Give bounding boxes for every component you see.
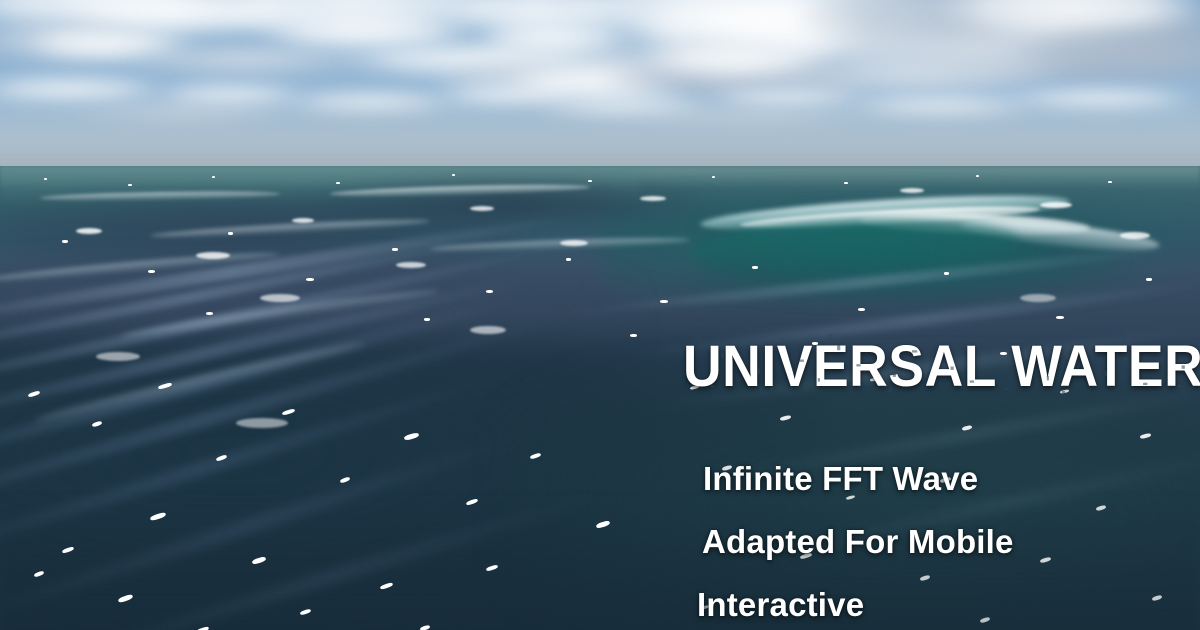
sun-sparkle <box>1056 316 1064 319</box>
sun-sparkle <box>452 174 455 176</box>
sun-sparkle <box>660 300 668 303</box>
swell-streak <box>0 310 567 533</box>
sun-sparkle <box>128 184 132 186</box>
swell-streak <box>0 211 577 333</box>
hero-banner: UNIVERSAL WATER SYSTEM <box>0 0 1200 630</box>
wave-crest <box>430 235 690 253</box>
sun-sparkle <box>858 308 865 311</box>
sun-sparkle <box>340 476 351 483</box>
sun-sparkle <box>300 608 312 615</box>
whitecap <box>1120 232 1150 239</box>
overlay-text-block: UNIVERSAL WATER SYSTEM <box>683 334 1200 622</box>
sun-sparkle <box>392 248 398 251</box>
far-water-band <box>0 166 1200 188</box>
wave-crest <box>33 338 367 426</box>
wave-crest <box>0 249 280 285</box>
cloud-wisp <box>470 18 640 58</box>
sun-sparkle <box>1108 181 1112 183</box>
swell-streak <box>0 229 515 366</box>
whitecap <box>470 206 494 211</box>
sun-sparkle <box>486 564 499 572</box>
cloud-low <box>0 76 170 102</box>
whitecap <box>292 218 314 223</box>
whitecap <box>196 252 230 259</box>
swell-streak <box>0 272 533 438</box>
sun-sparkle <box>158 382 173 390</box>
sky-background <box>0 0 1200 172</box>
sun-sparkle <box>466 498 479 506</box>
breaking-wave-foam <box>740 202 1040 232</box>
whitecap <box>470 326 506 334</box>
whitecap <box>96 352 140 361</box>
sun-sparkle <box>752 266 758 269</box>
whitecap <box>640 196 666 201</box>
sun-sparkle <box>118 594 134 604</box>
wave-crest <box>40 190 280 202</box>
sun-sparkle <box>62 546 75 554</box>
whitecap <box>1040 202 1072 208</box>
page-title-text: UNIVERSAL WATER SYSTEM <box>683 334 1200 399</box>
cloud-low <box>60 104 300 122</box>
swell-streak <box>0 423 547 629</box>
sun-sparkle <box>424 318 430 321</box>
wave-trough <box>300 172 720 234</box>
sun-sparkle <box>62 240 68 243</box>
feature-line-2: Adapted For Mobile <box>702 525 1200 559</box>
far-water-band <box>0 166 640 206</box>
sun-sparkle <box>148 270 155 273</box>
sun-sparkle <box>844 182 848 184</box>
swell-streak <box>0 369 508 570</box>
wave-face <box>689 214 1021 279</box>
sun-sparkle <box>228 232 233 235</box>
swell-streak <box>0 290 530 485</box>
sun-sparkle <box>216 454 228 462</box>
sun-sparkle <box>206 312 213 315</box>
swell-streak <box>51 486 610 630</box>
sun-sparkle <box>588 180 592 182</box>
whitecap <box>76 228 102 234</box>
sun-sparkle <box>712 176 715 178</box>
whitecap <box>900 188 924 193</box>
sun-sparkle <box>566 258 571 261</box>
sun-sparkle <box>596 520 611 529</box>
teal-wave-face <box>600 188 1200 308</box>
sun-sparkle <box>196 626 210 630</box>
sun-sparkle <box>34 570 45 577</box>
sun-sparkle <box>944 272 949 275</box>
sun-sparkle <box>212 176 215 178</box>
cloud-low <box>1000 88 1200 110</box>
breaking-wave-foam <box>959 214 1160 257</box>
sun-sparkle <box>28 390 41 398</box>
breaking-wave-foam <box>860 210 1091 238</box>
teal-wave-face <box>700 210 1120 302</box>
sun-sparkle <box>1146 278 1152 281</box>
sun-sparkle <box>976 175 979 177</box>
whitecap <box>560 240 588 246</box>
sun-sparkle <box>486 290 493 293</box>
feature-line-3: Interactive <box>697 588 1200 622</box>
cloud-low <box>620 110 880 126</box>
whitecap <box>1020 294 1056 302</box>
wave-crest <box>150 217 430 241</box>
page-title: UNIVERSAL WATER SYSTEM <box>683 334 1200 399</box>
sun-sparkle <box>420 625 431 630</box>
feature-line-1: Infinite FFT Wave <box>703 462 1200 496</box>
sun-sparkle <box>380 582 394 590</box>
sun-sparkle <box>306 278 314 281</box>
wave-trough <box>0 190 520 270</box>
sun-sparkle <box>92 421 103 428</box>
whitecap <box>396 262 426 268</box>
breaking-wave-crest <box>700 189 1071 238</box>
swell-streak <box>0 243 553 404</box>
wave-trough <box>0 258 640 388</box>
sun-sparkle <box>630 334 637 337</box>
whitecap <box>236 418 288 428</box>
sun-sparkle <box>336 182 340 184</box>
sun-sparkle <box>252 556 267 565</box>
sun-sparkle <box>150 512 167 522</box>
wave-crest <box>121 286 439 341</box>
sun-sparkle <box>44 178 47 180</box>
sun-sparkle <box>282 408 296 416</box>
sun-sparkle <box>404 432 420 441</box>
swell-streak <box>561 244 1179 320</box>
wave-crest <box>330 183 590 199</box>
whitecap <box>260 294 300 302</box>
sun-sparkle <box>530 452 542 459</box>
